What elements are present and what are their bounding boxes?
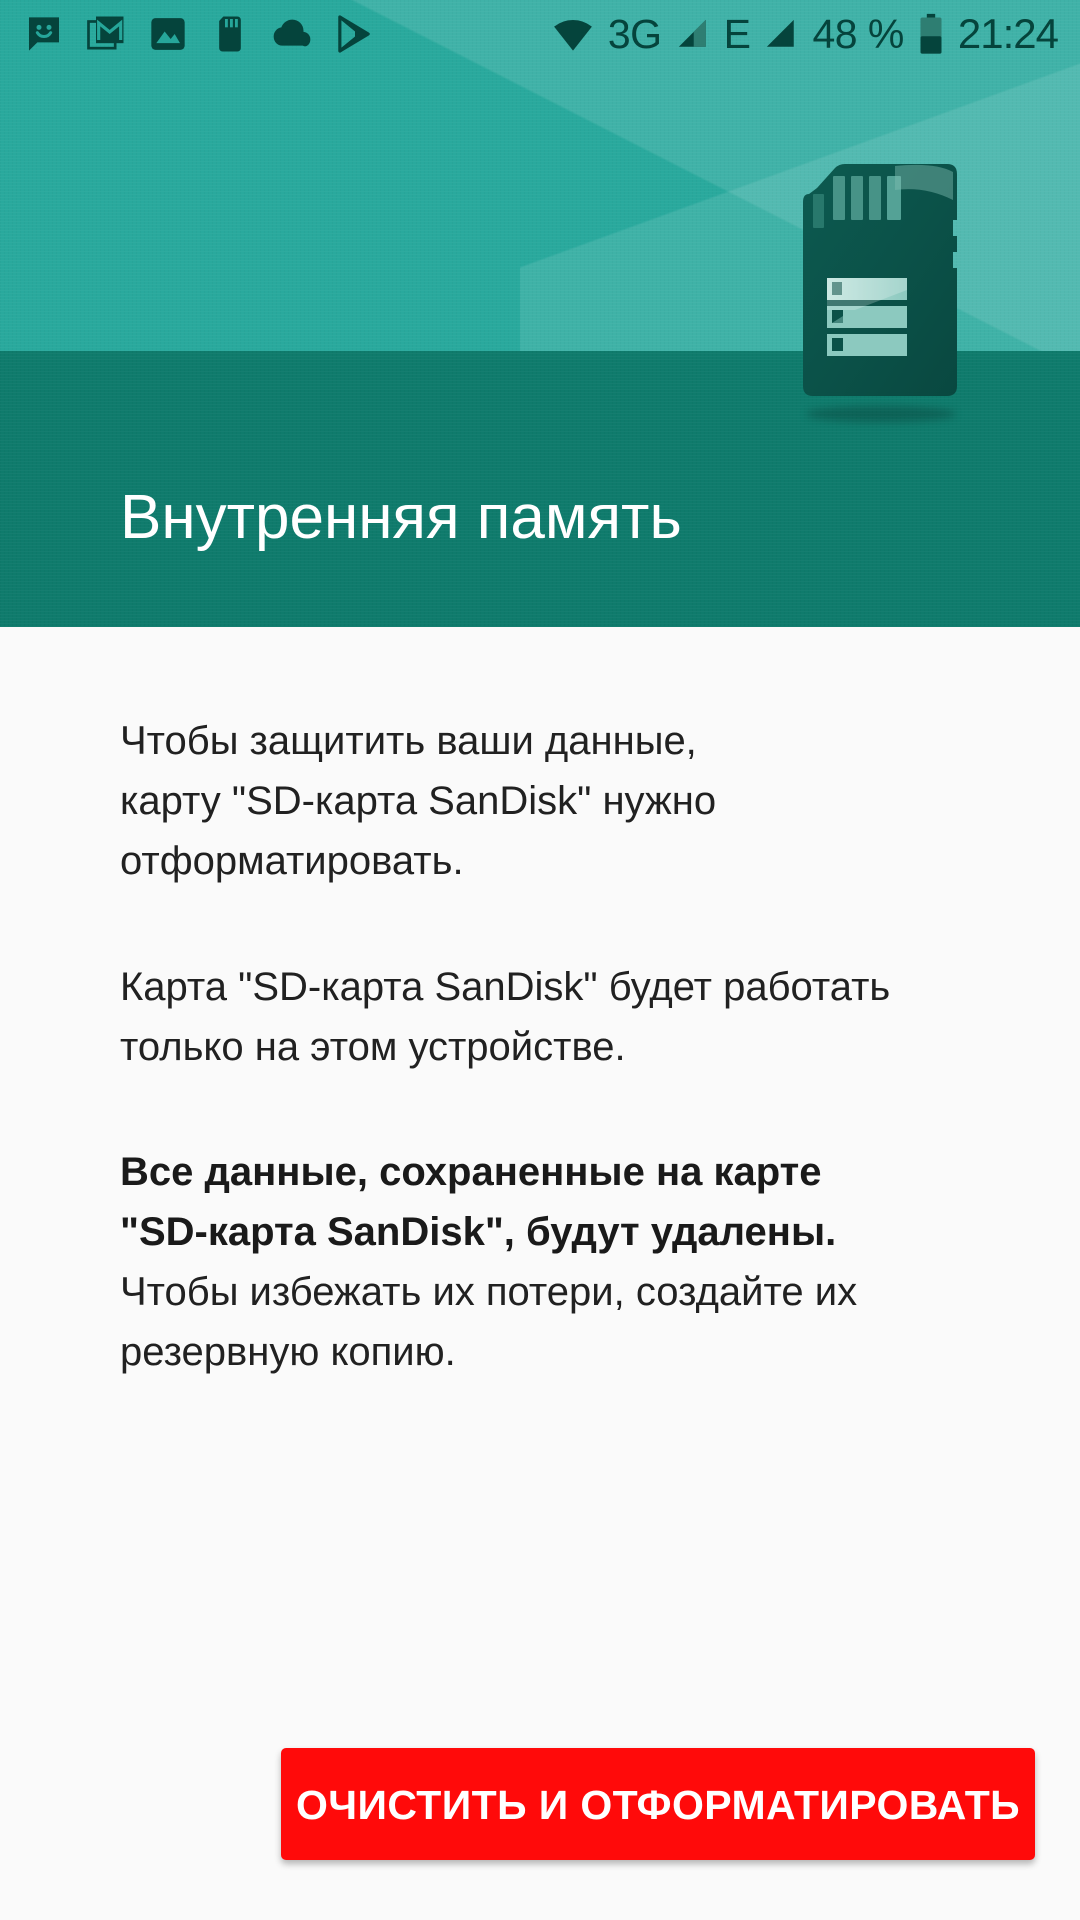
sd-card-illustration — [795, 160, 965, 400]
signal-bars-icon — [676, 15, 710, 53]
storage-format-screen: Внутренняя память — [0, 0, 1080, 1920]
network-type-label-secondary: E — [724, 14, 751, 55]
battery-percent-label: 48 % — [812, 14, 903, 55]
warning-paragraph-device-only: Карта "SD-карта SanDisk" будет работать … — [120, 957, 1000, 1077]
status-bar-notifications — [24, 14, 374, 54]
clock-label: 21:24 — [958, 13, 1058, 55]
battery-icon — [918, 13, 944, 55]
header-banner: Внутренняя память — [0, 0, 1080, 627]
cloud-icon — [272, 14, 312, 54]
network-type-label: 3G — [608, 14, 662, 55]
warning-paragraph-protect: Чтобы защитить ваши данные, карту "SD-ка… — [120, 711, 1000, 891]
sd-card-shadow — [806, 406, 956, 422]
page-title: Внутренняя память — [120, 487, 682, 549]
photos-icon — [148, 14, 188, 54]
sdcard-icon — [210, 14, 250, 54]
wifi-icon — [552, 13, 594, 55]
content-area: Чтобы защитить ваши данные, карту "SD-ка… — [0, 627, 1080, 1920]
warning-paragraph-erase-bold: Все данные, сохраненные на карте "SD-кар… — [120, 1142, 1000, 1262]
signal-bars-icon-secondary — [764, 15, 798, 53]
status-bar: 3G E 48 % 21:24 — [0, 0, 1080, 68]
warning-paragraph-backup: Чтобы избежать их потери, создайте их ре… — [120, 1262, 1000, 1382]
erase-and-format-button[interactable]: ОЧИСТИТЬ И ОТФОРМАТИРОВАТЬ — [281, 1748, 1035, 1860]
messaging-icon — [24, 14, 64, 54]
play-store-icon — [334, 14, 374, 54]
status-bar-system: 3G E 48 % 21:24 — [552, 13, 1058, 55]
gmail-icon — [86, 14, 126, 54]
